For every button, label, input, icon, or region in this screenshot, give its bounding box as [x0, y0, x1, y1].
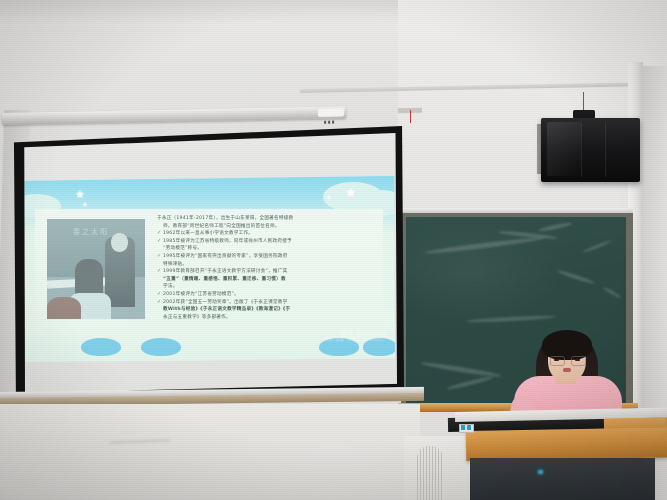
slide-text-line-label: “五重”（重情趣、重感悟、重积累、重迁移、重习惯）教 [163, 277, 286, 282]
slide-text-line: ✓1999年教育部召开“于永正语文教学方法研讨会”，推广其 [157, 268, 375, 276]
watermark-line-1: 激活 Windows [324, 330, 387, 338]
slide-body-text: 于永正（1941年-2017年），出生于山东莱阳，全国著名特级教师。教育部“跨世… [157, 215, 375, 321]
slide-wave [141, 338, 181, 356]
speaker-wire [583, 92, 584, 111]
presenter-glasses [550, 356, 565, 366]
slide-text-line-label: 1962年以来一直从事小学语文教学工作。 [163, 231, 253, 236]
slide-text-line: 永正与五重教学》等多部著作。 [157, 314, 375, 322]
slide-text-line: ✓1995年被评为“国家有突出贡献的专家”，享受国务院政府 [157, 253, 375, 261]
speaker-ridge [605, 123, 606, 177]
slide-photo: 春之太阳 [47, 219, 145, 319]
checkmark-icon: ✓ [157, 291, 161, 297]
slide-text-line-label: “劳动模范”称号。 [163, 246, 202, 251]
podium-lower-panel [470, 458, 655, 500]
slide-text-line-label: 2002年获“全国五一劳动奖章”。出版了《于永正课堂教学 [163, 300, 288, 305]
photo-projection-haze [47, 219, 145, 319]
teacher-desk-front-panel [0, 404, 420, 500]
slide-text-line-label: 永正与五重教学》等多部著作。 [163, 315, 231, 320]
slide-text-line: 特殊津贴。 [157, 261, 375, 269]
red-wire [410, 110, 411, 123]
slide-text-line-label: 于永正（1941年-2017年），出生于山东莱阳，全国著名特级教 [157, 216, 293, 221]
windows-activation-watermark: 激活 Windows 转到“设置”以激活 Windows。 [324, 330, 387, 344]
speaker-ridge [581, 123, 582, 177]
podium-vent-grille [417, 446, 443, 500]
wall-speaker [541, 118, 640, 182]
presenter-mouth [563, 368, 571, 372]
slide-text-line: 学法。 [157, 283, 375, 291]
speaker-sheen [547, 122, 581, 176]
slide-text-line: 于永正（1941年-2017年），出生于山东莱阳，全国著名特级教 [157, 215, 375, 223]
slide-star-icon: ✦ [326, 193, 332, 204]
roller-indicator-dots [324, 111, 338, 114]
slide-star-icon: ★ [345, 187, 357, 198]
checkmark-icon: ✓ [157, 230, 161, 236]
slide-text-line-label: 特殊津贴。 [163, 262, 187, 267]
projected-slide: ★ ★ ✦ ✦ 春之太阳 于永正（1941年-2017年），出生于山东莱阳，全国… [23, 176, 395, 362]
slide-text-line: ✓1962年以来一直从事小学语文教学工作。 [157, 230, 375, 238]
presenter-eye [554, 359, 559, 361]
wall-switch-plate[interactable] [459, 424, 474, 433]
slide-wave [81, 338, 121, 356]
watermark-line-2: 转到“设置”以激活 Windows。 [324, 338, 387, 344]
slide-text-line-label: 教With与经验》《于永正语文教学精品录》《教海漫记》《于 [163, 307, 290, 312]
checkmark-icon: ✓ [157, 238, 161, 244]
slide-text-line: ✓2002年获“全国五一劳动奖章”。出版了《于永正课堂教学 [157, 299, 375, 307]
slide-content-card: 春之太阳 于永正（1941年-2017年），出生于山东莱阳，全国著名特级教师。教… [35, 209, 383, 334]
slide-text-line: ✓1985年被评为江苏省特级教师，同年或徐州市人民政府授予 [157, 238, 375, 246]
checkmark-icon: ✓ [157, 299, 161, 305]
slide-text-line: 教With与经验》《于永正语文教学精品录》《教海漫记》《于 [157, 306, 375, 314]
checkmark-icon: ✓ [157, 253, 161, 259]
blue-power-led-icon [538, 470, 543, 474]
slide-text-line: “劳动模范”称号。 [157, 245, 375, 253]
slide-text-line: “五重”（重情趣、重感悟、重积累、重迁移、重习惯）教 [157, 276, 375, 284]
slide-text-line: ✓2001年被评为“江苏省劳动模范”。 [157, 291, 375, 299]
slide-text-line-label: 师。教育部“跨世纪名师工程”向全国推出的首位名师。 [163, 224, 280, 229]
slide-text-line-label: 学法。 [163, 284, 178, 289]
slide-text-line: 师。教育部“跨世纪名师工程”向全国推出的首位名师。 [157, 223, 375, 231]
classroom-photo: ★ ★ ✦ ✦ 春之太阳 于永正（1941年-2017年），出生于山东莱阳，全国… [0, 0, 667, 500]
presenter-eye [575, 359, 580, 361]
wooden-lectern-front[interactable] [466, 427, 667, 461]
presenter-glasses [571, 356, 586, 366]
slide-text-line-label: 2001年被评为“江苏省劳动模范”。 [163, 292, 239, 297]
slide-text-line-label: 1999年教育部召开“于永正语文教学方法研讨会”，推广其 [163, 269, 288, 274]
slide-text-line-label: 1995年被评为“国家有突出贡献的专家”，享受国务院政府 [163, 254, 288, 259]
slide-text-line-label: 1985年被评为江苏省特级教师，同年或徐州市人民政府授予 [163, 239, 292, 244]
checkmark-icon: ✓ [157, 268, 161, 274]
